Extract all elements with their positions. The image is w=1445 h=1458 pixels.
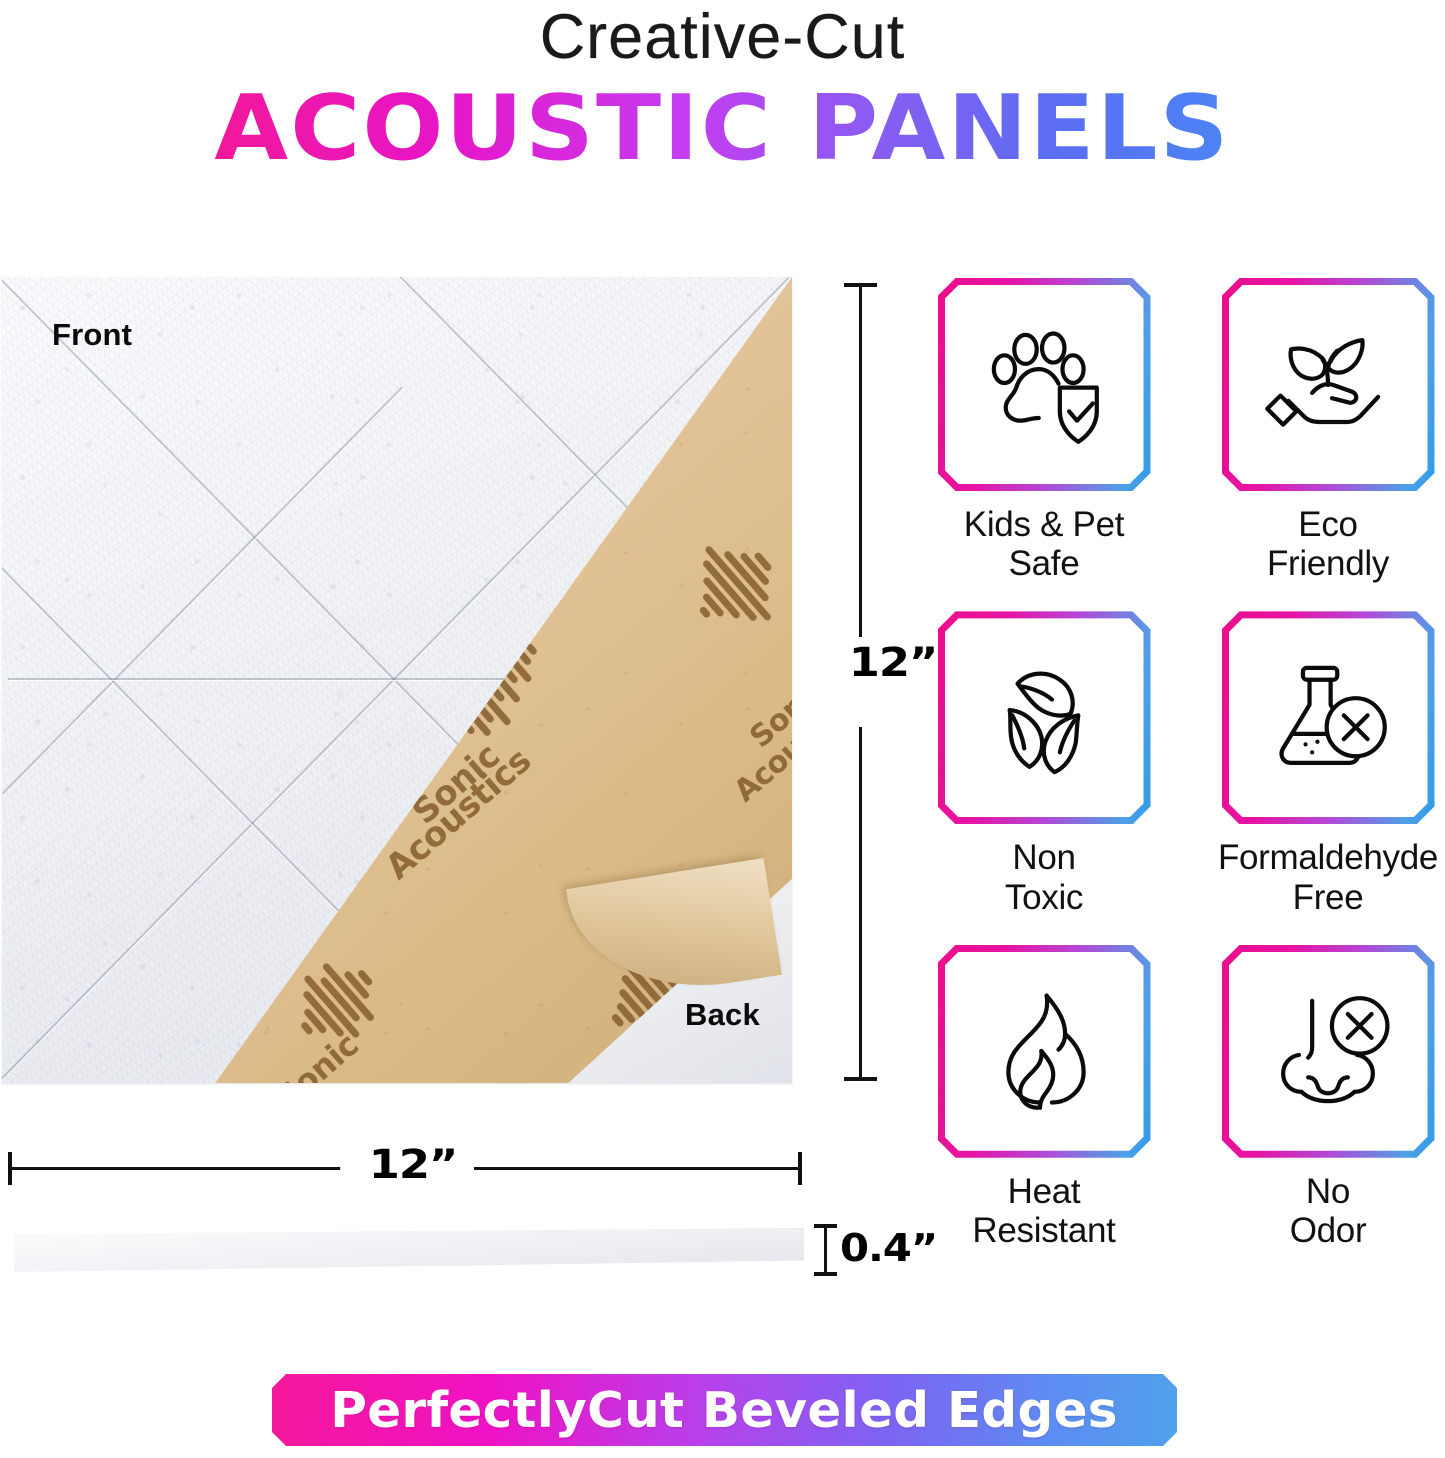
dimension-width-label: 12” [340,1142,486,1188]
waveform-graphic [671,523,792,651]
flame-icon [978,985,1110,1117]
feature-formaldehyde-free: Formaldehyde Free [1214,611,1442,916]
feature-grid: Kids & Pet Safe Eco Friendly [930,278,1442,1250]
feature-label: Formaldehyde Free [1218,838,1438,916]
dimension-width: 12” [8,1140,808,1202]
feature-badge [1222,945,1435,1158]
feature-label: Heat Resistant [972,1172,1115,1250]
feature-heat-resistant: Heat Resistant [930,945,1158,1250]
feature-eco-friendly: Eco Friendly [1214,278,1442,583]
nose-no-icon [1262,985,1394,1117]
back-face-label: Back [685,997,760,1033]
feature-label: Non Toxic [1005,838,1083,916]
feature-label: Kids & Pet Safe [964,505,1124,583]
banner-text: PerfectlyCut Beveled Edges [331,1382,1119,1439]
product-panel-photo: Sonic Acoustics Sonic Acoustics Sonic Ac… [2,277,792,1083]
page-title: ACOUSTIC PANELS [214,82,1230,177]
feature-badge [1222,611,1435,824]
feature-badge [1222,278,1435,491]
feature-label: No Odor [1290,1172,1367,1250]
feature-kids-pet-safe: Kids & Pet Safe [930,278,1158,583]
paw-shield-icon [978,319,1110,451]
bottom-banner: PerfectlyCut Beveled Edges [272,1374,1177,1446]
header: Creative-Cut ACOUSTIC PANELS [0,0,1445,177]
feature-badge [938,278,1151,491]
front-face-label: Front [52,317,132,353]
recycle-leaves-icon [978,652,1110,784]
feature-no-odor: No Odor [1214,945,1442,1250]
dimension-thickness-label: 0.4” [840,1226,937,1270]
panel-side-profile [14,1228,804,1272]
feature-label: Eco Friendly [1267,505,1389,583]
flask-no-icon [1262,652,1394,784]
feature-badge [938,945,1151,1158]
feature-non-toxic: Non Toxic [930,611,1158,916]
feature-badge [938,611,1151,824]
header-subtitle: Creative-Cut [0,4,1445,70]
hand-sprout-icon [1262,319,1394,451]
